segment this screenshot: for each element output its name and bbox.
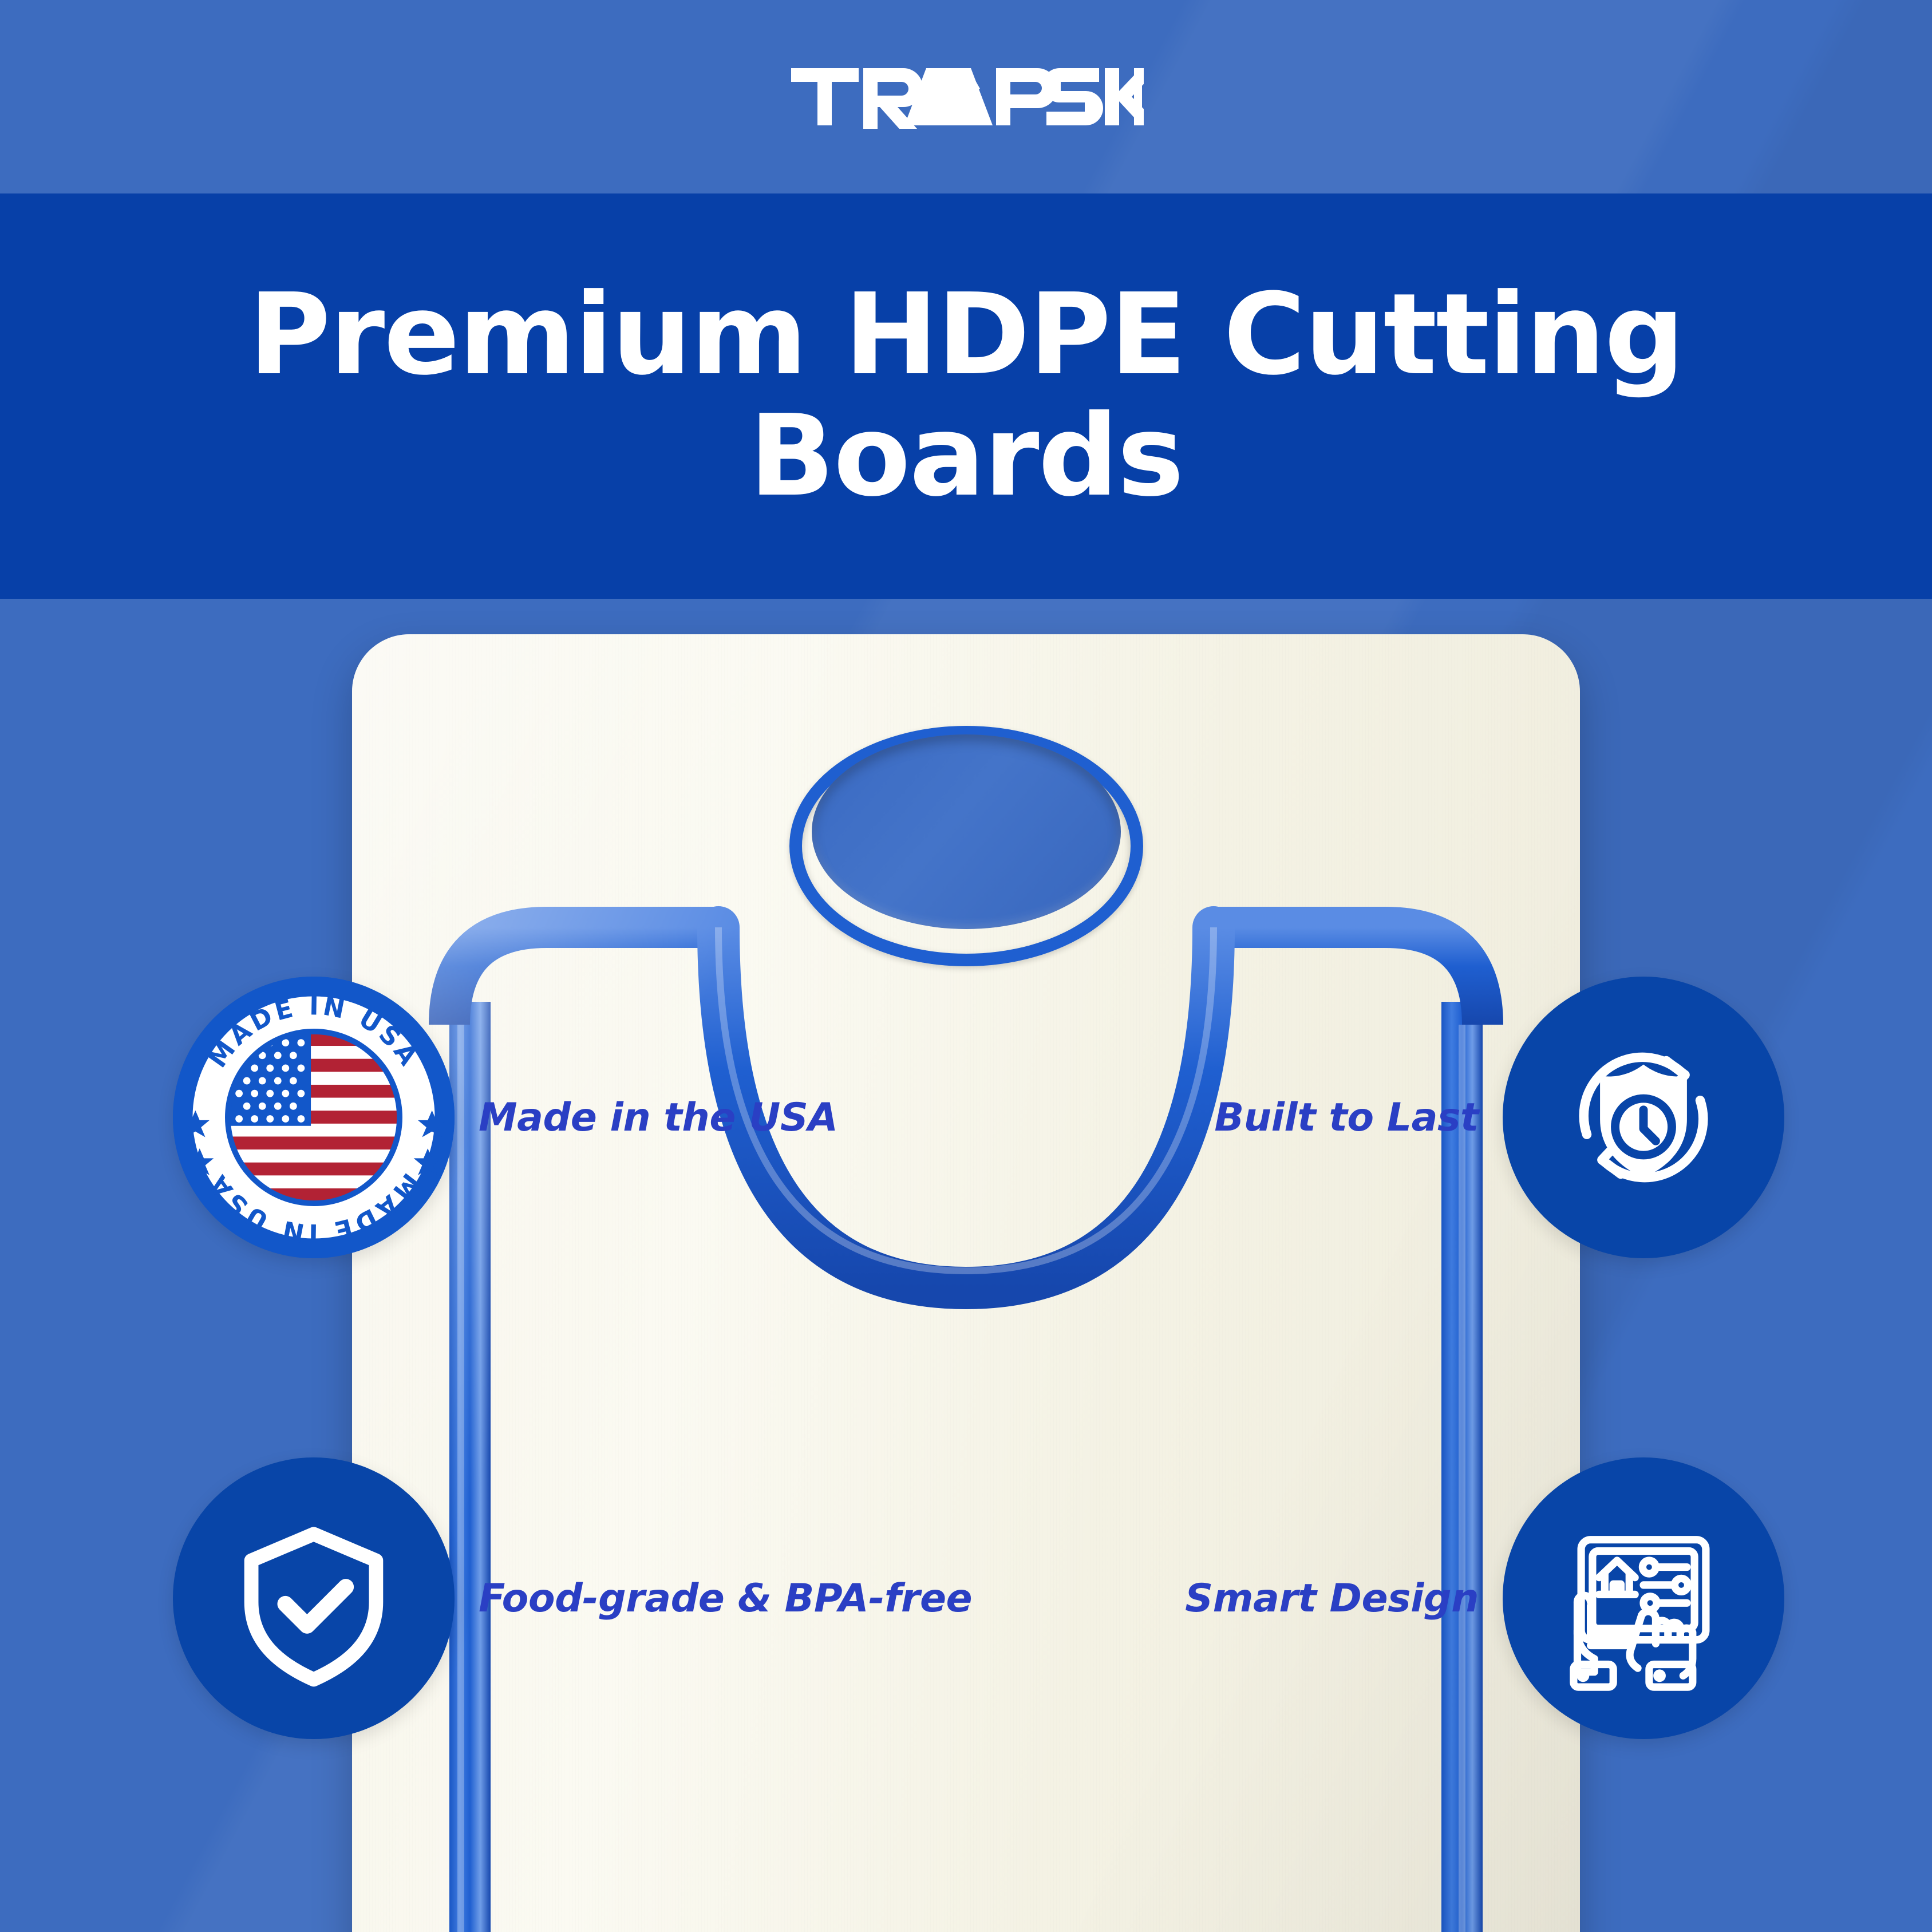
hands-tablet-controls-icon xyxy=(1503,1457,1784,1739)
title-banner: Premium HDPE Cutting Boards xyxy=(0,193,1932,599)
page-title: Premium HDPE Cutting Boards xyxy=(193,275,1739,517)
feature-made-in-usa[interactable]: MADE IN USA MADE IN USA Made in the USA xyxy=(173,977,837,1258)
feature-label: Made in the USA xyxy=(479,1095,837,1140)
feature-food-grade[interactable]: Food-grade & BPA-free xyxy=(173,1457,972,1739)
made-in-usa-flag-badge-icon: MADE IN USA MADE IN USA xyxy=(173,977,455,1258)
feature-label: Food-grade & BPA-free xyxy=(479,1576,972,1621)
shield-check-icon xyxy=(173,1457,455,1739)
infographic-canvas: Premium HDPE Cutting Boards xyxy=(0,0,1932,1932)
feature-smart-design[interactable]: Smart Design xyxy=(1185,1457,1784,1739)
header-logo-bar xyxy=(0,0,1932,193)
shield-clock-refresh-icon xyxy=(1503,977,1784,1258)
feature-label: Built to Last xyxy=(1214,1095,1479,1140)
feature-label: Smart Design xyxy=(1185,1576,1479,1621)
feature-built-to-last[interactable]: Built to Last xyxy=(1214,977,1784,1258)
trapski-logo xyxy=(789,62,1144,131)
